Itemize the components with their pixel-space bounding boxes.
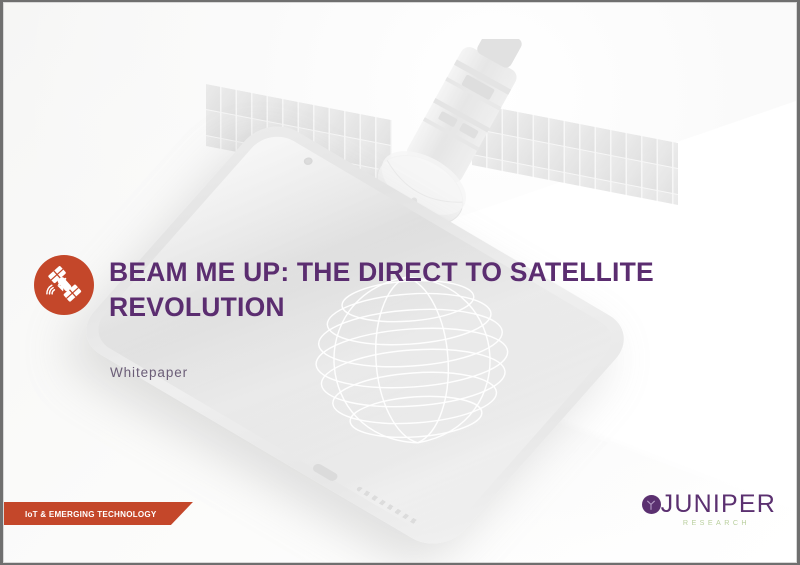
satellite-icon [45, 266, 83, 304]
category-banner: IoT & EMERGING TECHNOLOGY [3, 502, 193, 525]
juniper-research-logo: JUNIPER RESEARCH [642, 492, 776, 527]
sprig-glyph [645, 499, 657, 511]
document-page: BEAM ME UP: THE DIRECT TO SATELLITE REVO… [3, 2, 797, 563]
juniper-sprig-icon [642, 495, 661, 514]
logo-row: JUNIPER [642, 492, 776, 517]
page-title: BEAM ME UP: THE DIRECT TO SATELLITE REVO… [109, 255, 689, 324]
logo-wordmark: JUNIPER [661, 492, 776, 517]
document-type-label: Whitepaper [110, 365, 188, 380]
category-banner-label: IoT & EMERGING TECHNOLOGY [25, 509, 157, 519]
logo-subtext: RESEARCH [683, 518, 750, 527]
satellite-badge [34, 255, 94, 315]
